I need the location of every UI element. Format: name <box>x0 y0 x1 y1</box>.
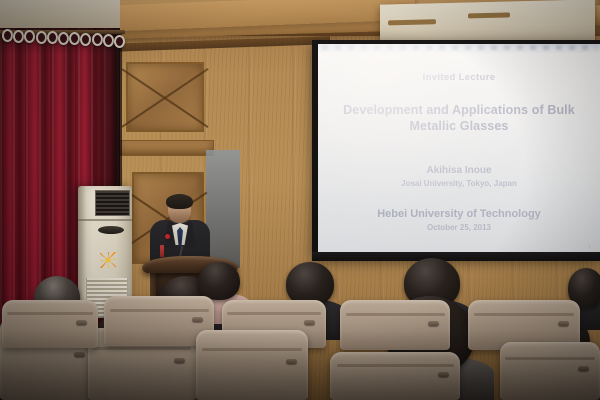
seat-knob-icon <box>192 317 203 322</box>
seat-knob-icon <box>76 320 87 325</box>
seat-row2-left[interactable] <box>2 300 98 348</box>
ac-display-panel <box>98 226 124 234</box>
seat-row1-right[interactable] <box>196 330 308 400</box>
curtain-grommet-icon <box>36 31 47 44</box>
slide-content: Invited Lecture Development and Applicat… <box>318 53 600 254</box>
slide-host: Hebei University of Technology <box>318 208 600 220</box>
seat-knob-icon <box>304 320 315 325</box>
curtain-grommet-icon <box>2 29 13 42</box>
curtain-grommet-icon <box>69 32 80 45</box>
curtain-grommet-icon <box>103 34 114 47</box>
ac-grille-icon <box>95 190 130 216</box>
seat-row2-far[interactable] <box>340 300 450 350</box>
ac-seam <box>78 219 132 221</box>
slide-eyebrow: Invited Lecture <box>318 72 600 83</box>
seat-knob-icon <box>74 352 85 357</box>
screen-bottom-bezel <box>312 252 600 261</box>
ac-sunburst-logo-icon <box>100 252 116 268</box>
presenter-lapel-badge-icon <box>165 234 170 239</box>
curtain-grommet-icon <box>80 33 91 46</box>
seat-knob-icon <box>286 359 297 364</box>
head-back-woman <box>198 262 240 300</box>
seat-knob-icon <box>428 321 439 326</box>
lecture-hall-photo: 河北工业 Invited Lecture Development and App… <box>0 0 600 400</box>
projection-screen[interactable]: Invited Lecture Development and Applicat… <box>318 44 600 254</box>
slide-title: Development and Applications of Bulk Met… <box>318 102 600 134</box>
curtain-grommet-icon <box>92 33 103 46</box>
wall-panel-divider <box>118 140 214 156</box>
slide-page-number: 1 <box>588 244 591 249</box>
curtain-grommets <box>0 28 125 46</box>
curtain-grommet-icon <box>58 32 69 45</box>
water-bottle <box>160 245 164 257</box>
presenter-hair <box>166 194 193 209</box>
slide-date: October 25, 2013 <box>318 223 600 232</box>
seat-edge-right[interactable] <box>500 342 600 400</box>
seat-knob-icon <box>438 372 449 377</box>
presenter-face-shading <box>168 210 191 223</box>
seat-front-right[interactable] <box>330 352 460 400</box>
toolbar-blurred-text <box>322 45 596 50</box>
seat-knob-icon <box>558 321 569 326</box>
curtain-grommet-icon <box>47 31 58 44</box>
seat-knob-icon <box>578 366 589 371</box>
slide-author: Akihisa Inoue <box>318 165 600 176</box>
slide-affiliation: Josai University, Tokyo, Japan <box>318 179 600 188</box>
curtain-grommet-icon <box>24 30 35 43</box>
curtain-grommet-icon <box>114 35 125 48</box>
curtain-grommet-icon <box>13 30 24 43</box>
presentation-toolbar <box>318 44 600 53</box>
seat-knob-icon <box>174 358 185 363</box>
wall-strip-above-curtain <box>0 0 120 30</box>
